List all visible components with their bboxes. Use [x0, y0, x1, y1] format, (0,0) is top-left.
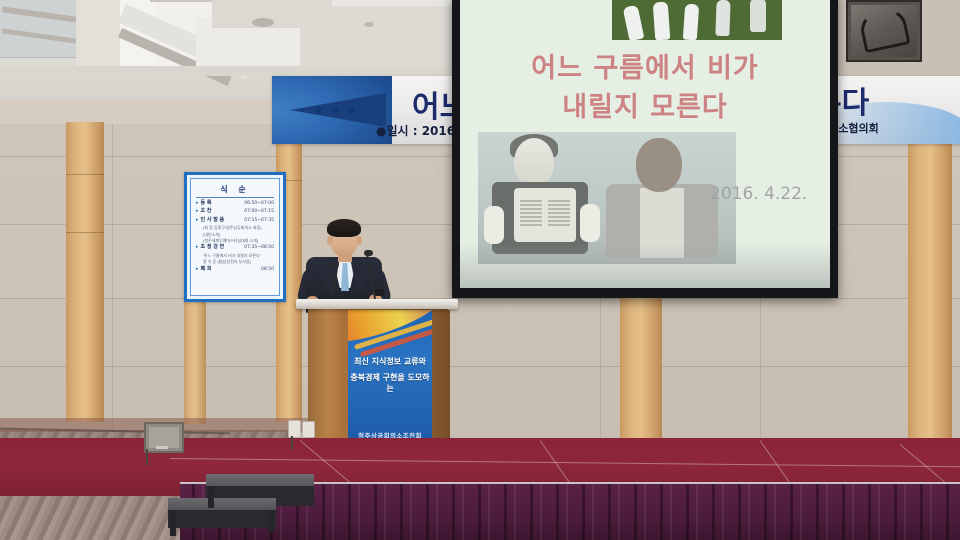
robot-finger-3	[683, 4, 699, 40]
schedule-row-time: 07:15~07:35	[244, 219, 274, 224]
step-leg-upper-left	[208, 486, 214, 508]
wall-outlet-right[interactable]	[302, 421, 315, 438]
podium-banner-line-2: 충북경제 구현을 도모하는	[348, 372, 432, 394]
schedule-row-label: 인 사 말 씀	[201, 218, 225, 224]
bullet-icon: ▸	[196, 201, 199, 207]
wall-vseam-1	[112, 112, 113, 442]
schedule-note-2: (내빈소개)	[196, 233, 274, 237]
podium-top-surface	[296, 299, 458, 309]
schedule-row-time: 07:00~07:15	[244, 210, 274, 215]
schedule-row-lecture: ▸ 초 청 강 연 07:35~08:50	[196, 245, 274, 251]
stage-seam-diag-4	[900, 444, 948, 485]
schedule-row-label: 폐 회	[201, 267, 212, 273]
speaker-hair	[327, 219, 361, 237]
bullet-icon: ▸	[196, 218, 199, 224]
bullet-icon: ▸	[196, 267, 199, 273]
banner-dot-1	[316, 107, 323, 114]
ceiling-spotlight	[252, 18, 274, 27]
step-leg-left	[170, 510, 176, 536]
projection-screen-frame: 어느 구름에서 비가 내릴지 모른다 2016. 4.22.	[452, 0, 838, 298]
step-upper-tread	[206, 474, 314, 486]
schedule-note-1: (회 장 김종구/청주상공회의소 회장)	[196, 226, 274, 230]
robot-finger-5	[750, 0, 766, 32]
robot-chest-panel	[514, 188, 576, 242]
schedule-row-time: 06:50~07:00	[244, 202, 274, 207]
slide-date: 2016. 4.22.	[710, 184, 807, 204]
schedule-row-time: 08:50	[261, 268, 274, 273]
schedule-row-time: 07:35~08:50	[244, 246, 274, 251]
speaker-ear-right	[356, 236, 362, 245]
wall-picture-image	[851, 5, 917, 57]
monitor-cable	[146, 449, 148, 465]
robot-arm-left	[484, 206, 504, 244]
robot-arm-right	[580, 204, 600, 242]
schedule-row-label: 등 록	[201, 201, 212, 207]
schedule-row-label: 조 찬	[201, 209, 212, 215]
schedule-poster: 식 순 ▸ 등 록 06:50~07:00 ▸ 조 찬 07:00~07:15 …	[184, 172, 286, 302]
schedule-note-5: 홍 석 준 (前삼성전자 부사장)	[196, 260, 274, 264]
wall-monitor-screen	[149, 427, 179, 448]
slide-title-line-1: 어느 구름에서 비가	[460, 46, 830, 85]
emblem-icon	[857, 5, 910, 54]
schedule-row: ▸ 조 찬 07:00~07:15	[196, 209, 274, 215]
wall-picture-frame	[846, 0, 922, 62]
screen-lower-shadow	[460, 242, 830, 288]
robot-finger-1	[623, 5, 645, 40]
bullet-icon: ▸	[196, 245, 199, 251]
wall-seam-4	[0, 366, 960, 367]
stage-seam-front	[170, 458, 960, 467]
schedule-note-4: '어느 구름에서 비가 내릴지 모른다'	[196, 254, 274, 258]
outlet-cable	[291, 436, 293, 450]
schedule-row: ▸ 등 록 06:50~07:00	[196, 201, 274, 207]
microphone-head	[364, 250, 373, 256]
speaker-ear-left	[327, 236, 333, 245]
schedule-row-closing: ▸ 폐 회 08:50	[196, 267, 274, 273]
schedule-row-label: 초 청 강 연	[201, 245, 225, 251]
robot-finger-4	[715, 0, 730, 36]
person-head	[636, 138, 682, 192]
step-leg-right	[268, 510, 274, 532]
banner-dot-2	[332, 107, 339, 114]
robot-head	[514, 138, 554, 186]
schedule-row: ▸ 인 사 말 씀 07:15~07:35	[196, 218, 274, 224]
ceiling-downlight	[364, 22, 374, 27]
slide-title-line-2: 내릴지 모른다	[460, 85, 830, 124]
step-lower-tread	[168, 498, 276, 510]
conference-hall-photo: 어느 ●일시 : 2016년 른다 회의소협의회 어느 구름에서 비가 내릴지 …	[0, 0, 960, 540]
robot-finger-2	[653, 2, 671, 40]
wall-seam-3	[0, 298, 960, 299]
robot-chest-vent-1	[520, 200, 542, 226]
banner-dot-3	[348, 107, 355, 114]
wall-pilaster-right-b	[908, 130, 952, 442]
podium-banner-line-1: 최신 지식정보 교류와	[348, 356, 432, 367]
bullet-icon: ▸	[196, 209, 199, 215]
projection-screen: 어느 구름에서 비가 내릴지 모른다 2016. 4.22.	[460, 0, 830, 288]
schedule-poster-inner: 식 순 ▸ 등 록 06:50~07:00 ▸ 조 찬 07:00~07:15 …	[190, 178, 280, 296]
slide-top-image	[612, 0, 782, 40]
wall-pilaster-small	[184, 300, 206, 424]
microphone-head-2	[330, 262, 339, 268]
wall-monitor-led	[156, 446, 168, 449]
ceiling-cornice	[0, 66, 520, 76]
schedule-poster-title: 식 순	[196, 184, 274, 198]
wall-pilaster-right-a	[620, 292, 662, 442]
ceiling-edge	[150, 0, 216, 2]
robot-chest-vent-2	[548, 200, 570, 226]
schedule-note-3: (청주세계무예마스터십대회 소개)	[196, 239, 274, 243]
wall-monitor	[144, 422, 184, 453]
step-lower-face	[168, 510, 276, 528]
wall-outlet-left[interactable]	[288, 420, 301, 438]
wall-pilaster-left	[66, 122, 104, 422]
